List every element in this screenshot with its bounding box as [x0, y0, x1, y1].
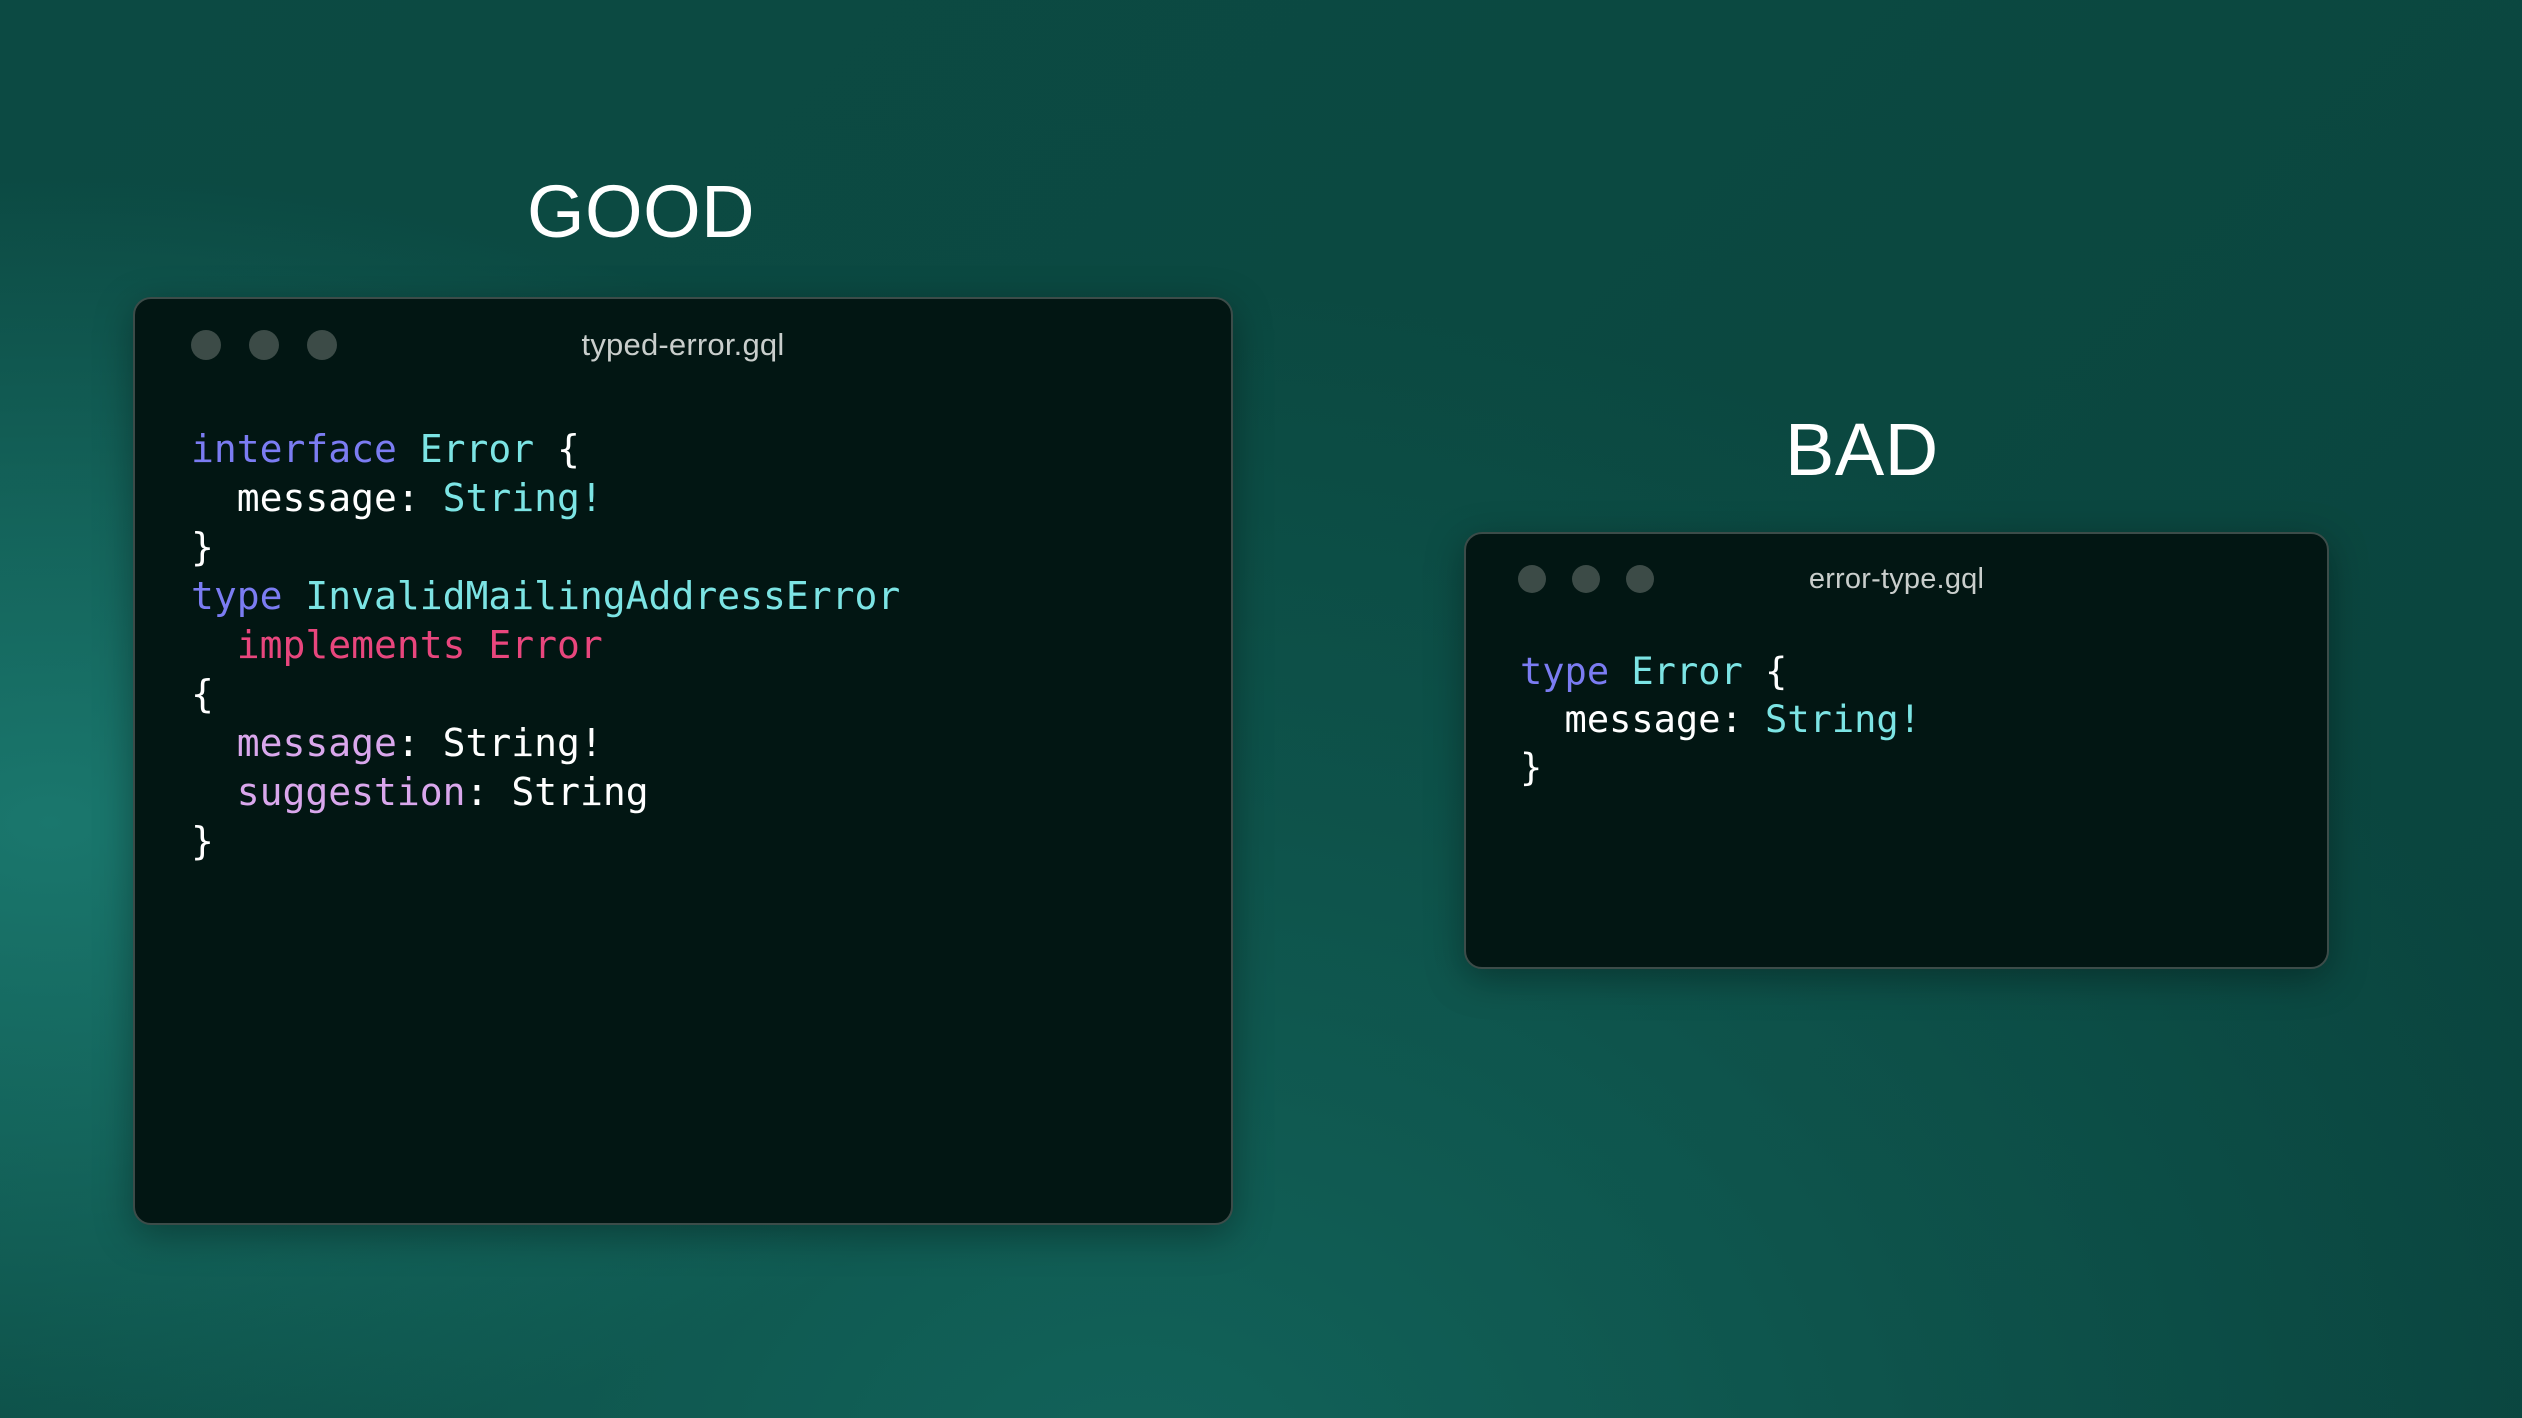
code-token-punctuation: :: [397, 721, 443, 765]
code-token-punctuation: }: [191, 525, 214, 569]
window-titlebar-good: typed-error.gql: [135, 299, 1231, 391]
code-token-field-white: message: [1520, 698, 1720, 741]
code-line: suggestion: String: [191, 768, 1231, 817]
code-token-type-white: String!: [443, 721, 603, 765]
code-line: }: [191, 523, 1231, 572]
code-token-punctuation: :: [466, 770, 512, 814]
code-line: {: [191, 670, 1231, 719]
code-line: interface Error {: [191, 425, 1231, 474]
panel-label-good: GOOD: [527, 175, 755, 249]
code-line: implements Error: [191, 621, 1231, 670]
code-window-good: typed-error.gql interface Error { messag…: [133, 297, 1233, 1225]
code-token-type-white: String: [511, 770, 648, 814]
code-line: type Error {: [1520, 648, 2327, 696]
traffic-light-close-icon[interactable]: [191, 330, 221, 360]
code-line: type InvalidMailingAddressError: [191, 572, 1231, 621]
code-token-keyword: type: [1520, 650, 1631, 693]
code-token-punctuation: :: [397, 476, 443, 520]
code-line: }: [191, 817, 1231, 866]
code-token-type-cyan: String!: [1765, 698, 1921, 741]
code-token-keyword: type: [191, 574, 305, 618]
code-token-type-name: InvalidMailingAddressError: [305, 574, 900, 618]
traffic-light-minimize-icon[interactable]: [1572, 565, 1600, 593]
code-token-punctuation: {: [191, 672, 214, 716]
code-token-implements: implements Error: [191, 623, 603, 667]
code-token-punctuation: }: [191, 819, 214, 863]
code-line: }: [1520, 744, 2327, 792]
code-token-type-name: Error: [420, 427, 534, 471]
panel-label-bad: BAD: [1785, 413, 1939, 487]
window-titlebar-bad: error-type.gql: [1466, 534, 2327, 624]
traffic-lights-good: [191, 330, 337, 360]
code-token-field-white: message: [191, 476, 397, 520]
code-content-good: interface Error { message: String!}type …: [135, 391, 1231, 866]
traffic-light-maximize-icon[interactable]: [1626, 565, 1654, 593]
code-line: message: String!: [191, 474, 1231, 523]
code-token-type-cyan: String!: [443, 476, 603, 520]
code-token-punctuation: {: [534, 427, 580, 471]
traffic-light-minimize-icon[interactable]: [249, 330, 279, 360]
code-token-punctuation: {: [1743, 650, 1788, 693]
code-token-keyword: interface: [191, 427, 420, 471]
traffic-light-maximize-icon[interactable]: [307, 330, 337, 360]
comparison-stage: GOOD typed-error.gql interface Error { m…: [0, 0, 2522, 1418]
code-token-field-purple: suggestion: [191, 770, 466, 814]
code-token-punctuation: :: [1720, 698, 1765, 741]
code-token-type-name: Error: [1631, 650, 1742, 693]
code-window-bad: error-type.gql type Error { message: Str…: [1464, 532, 2329, 969]
code-token-field-purple: message: [191, 721, 397, 765]
code-line: message: String!: [1520, 696, 2327, 744]
traffic-light-close-icon[interactable]: [1518, 565, 1546, 593]
code-content-bad: type Error { message: String!}: [1466, 624, 2327, 792]
code-token-punctuation: }: [1520, 746, 1542, 789]
code-line: message: String!: [191, 719, 1231, 768]
traffic-lights-bad: [1518, 565, 1654, 593]
